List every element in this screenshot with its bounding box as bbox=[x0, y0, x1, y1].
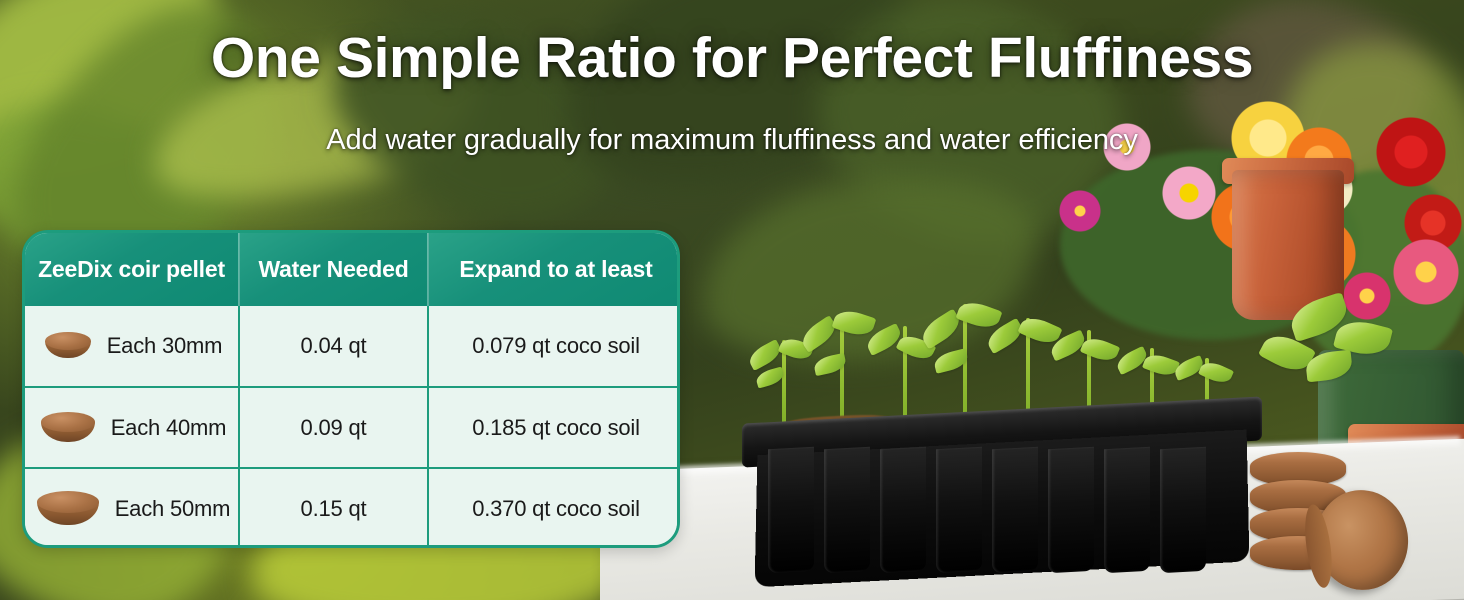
table-row: Each 40mm 0.09 qt 0.185 qt coco soil bbox=[25, 387, 680, 468]
tray-cell bbox=[1104, 447, 1150, 573]
cell-expand-volume: 0.185 qt coco soil bbox=[428, 387, 680, 468]
seedling-tray bbox=[742, 300, 1262, 590]
infographic-stage: One Simple Ratio for Perfect Fluffiness … bbox=[0, 0, 1464, 600]
table-header: ZeeDix coir pellet Water Needed Expand t… bbox=[25, 233, 680, 306]
coir-pellet-icon bbox=[41, 412, 95, 444]
tray-cell bbox=[880, 447, 926, 573]
coir-pellet-stack bbox=[1250, 452, 1380, 600]
column-header-water: Water Needed bbox=[239, 233, 428, 306]
cell-pellet-size: Each 30mm bbox=[25, 306, 239, 387]
cell-water-needed: 0.15 qt bbox=[239, 468, 428, 548]
page-title: One Simple Ratio for Perfect Fluffiness bbox=[0, 28, 1464, 88]
pellet-size-label: Each 50mm bbox=[115, 496, 231, 522]
tray-cell bbox=[1160, 447, 1206, 573]
tray-cell bbox=[992, 447, 1038, 573]
table-row: Each 50mm 0.15 qt 0.370 qt coco soil bbox=[25, 468, 680, 548]
coir-pellet-icon bbox=[37, 491, 99, 527]
cell-pellet-size: Each 40mm bbox=[25, 387, 239, 468]
ratio-table: ZeeDix coir pellet Water Needed Expand t… bbox=[22, 230, 680, 548]
cell-expand-volume: 0.079 qt coco soil bbox=[428, 306, 680, 387]
pellet-size-label: Each 30mm bbox=[107, 333, 223, 359]
coir-pellet-table: ZeeDix coir pellet Water Needed Expand t… bbox=[25, 233, 680, 548]
table-row: Each 30mm 0.04 qt 0.079 qt coco soil bbox=[25, 306, 680, 387]
column-header-expand: Expand to at least bbox=[428, 233, 680, 306]
tray-cell bbox=[936, 447, 982, 573]
table-header-row: ZeeDix coir pellet Water Needed Expand t… bbox=[25, 233, 680, 306]
page-subtitle: Add water gradually for maximum fluffine… bbox=[0, 124, 1464, 157]
pellet-size-label: Each 40mm bbox=[111, 415, 227, 441]
cell-expand-volume: 0.370 qt coco soil bbox=[428, 468, 680, 548]
cell-water-needed: 0.04 qt bbox=[239, 306, 428, 387]
cell-pellet-size: Each 50mm bbox=[25, 468, 239, 548]
flower-magenta bbox=[1052, 186, 1108, 236]
column-header-pellet: ZeeDix coir pellet bbox=[25, 233, 239, 306]
flower-pink-gerbera bbox=[1336, 268, 1398, 324]
coir-pellet-icon bbox=[45, 332, 91, 360]
tray-cell bbox=[768, 447, 814, 573]
tray-cell bbox=[1048, 447, 1094, 573]
tray-cell bbox=[824, 447, 870, 573]
cell-water-needed: 0.09 qt bbox=[239, 387, 428, 468]
table-body: Each 30mm 0.04 qt 0.079 qt coco soil Eac… bbox=[25, 306, 680, 548]
